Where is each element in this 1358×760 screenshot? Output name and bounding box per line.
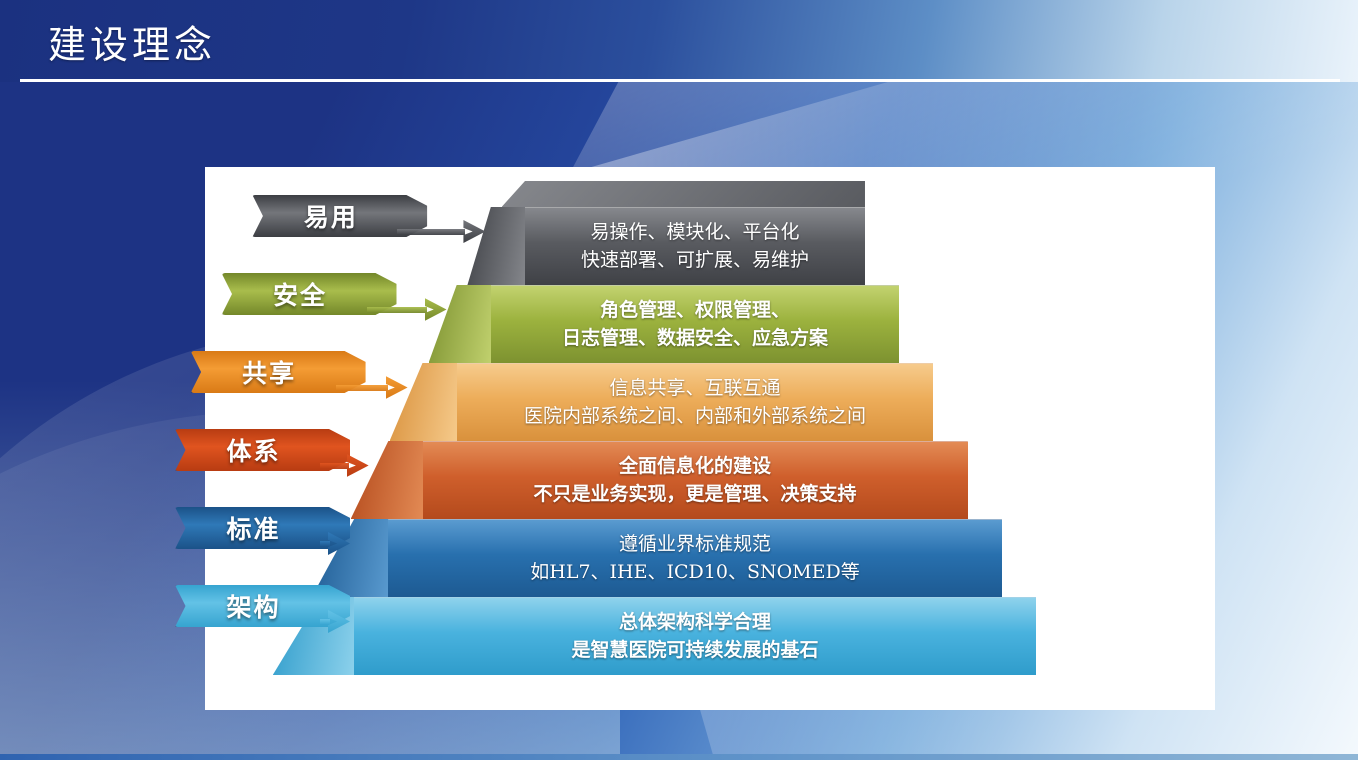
pyramid-arrow-head-4: [347, 454, 369, 477]
pyramid-level-4: 全面信息化的建设不只是业务实现，更是管理、决策支持: [423, 441, 968, 519]
pyramid-level-2-line1: 角色管理、权限管理、: [600, 297, 790, 325]
pyramid-level-4-line2: 不只是业务实现，更是管理、决策支持: [533, 481, 856, 509]
pyramid-level-1-line1: 易操作、模块化、平台化: [590, 219, 799, 247]
pyramid-level-side-3: [390, 363, 459, 441]
pyramid-level-2-line2: 日志管理、数据安全、应急方案: [562, 325, 828, 353]
pyramid-level-5-line2: 如HL7、IHE、ICD10、SNOMED等: [530, 559, 859, 587]
pyramid-level-6-line2: 是智慧医院可持续发展的基石: [571, 637, 818, 665]
pyramid-level-side-2: [429, 285, 493, 363]
pyramid-arrow-shaft-2: [367, 307, 427, 313]
pyramid-arrow-6: [320, 615, 350, 628]
pyramid-level-6: 总体架构科学合理是智慧医院可持续发展的基石: [354, 597, 1036, 675]
pyramid-arrow-head-3: [386, 376, 408, 399]
pyramid-label-text-1: 易用: [304, 198, 376, 234]
pyramid-arrow-shaft-4: [320, 463, 349, 469]
content-panel: 易操作、模块化、平台化快速部署、可扩展、易维护易用角色管理、权限管理、日志管理、…: [205, 167, 1215, 710]
pyramid-arrow-3: [336, 381, 408, 394]
pyramid-level-4-line1: 全面信息化的建设: [619, 453, 771, 481]
page-title: 建设理念: [48, 14, 216, 69]
pyramid-label-text-5: 标准: [226, 510, 298, 546]
pyramid-arrow-head-2: [425, 298, 447, 321]
pyramid-label-text-2: 安全: [273, 276, 345, 312]
pyramid-label-text-6: 架构: [226, 588, 298, 624]
pyramid-arrow-shaft-5: [320, 541, 330, 547]
pyramid-arrow-shaft-1: [397, 229, 465, 235]
pyramid-level-side-1: [467, 207, 527, 285]
pyramid-top-cap: [502, 181, 865, 207]
pyramid-level-6-line1: 总体架构科学合理: [619, 609, 771, 637]
pyramid-arrow-shaft-3: [336, 385, 388, 391]
pyramid-arrow-1: [397, 225, 485, 238]
pyramid-arrow-4: [320, 459, 369, 472]
pyramid-level-5-line1: 遵循业界标准规范: [619, 531, 771, 559]
pyramid-label-text-4: 体系: [226, 432, 298, 468]
background-bottom-strip: [0, 754, 1358, 760]
pyramid-level-3-line1: 信息共享、互联互通: [609, 375, 780, 403]
pyramid-arrow-5: [320, 537, 350, 550]
pyramid-label-text-3: 共享: [242, 354, 314, 390]
pyramid-level-side-4: [351, 441, 425, 519]
pyramid-level-2: 角色管理、权限管理、日志管理、数据安全、应急方案: [491, 285, 899, 363]
pyramid-level-1-line2: 快速部署、可扩展、易维护: [581, 247, 809, 275]
pyramid-level-3-line2: 医院内部系统之间、内部和外部系统之间: [524, 403, 866, 431]
pyramid-arrow-2: [367, 303, 447, 316]
pyramid-level-3: 信息共享、互联互通医院内部系统之间、内部和外部系统之间: [457, 363, 934, 441]
pyramid-level-5: 遵循业界标准规范如HL7、IHE、ICD10、SNOMED等: [388, 519, 1001, 597]
pyramid-diagram: 易操作、模块化、平台化快速部署、可扩展、易维护易用角色管理、权限管理、日志管理、…: [205, 167, 1215, 710]
slide-header: 建设理念: [0, 0, 1358, 82]
header-divider: [20, 79, 1340, 82]
pyramid-arrow-shaft-6: [320, 619, 330, 625]
pyramid-level-1: 易操作、模块化、平台化快速部署、可扩展、易维护: [525, 207, 865, 285]
